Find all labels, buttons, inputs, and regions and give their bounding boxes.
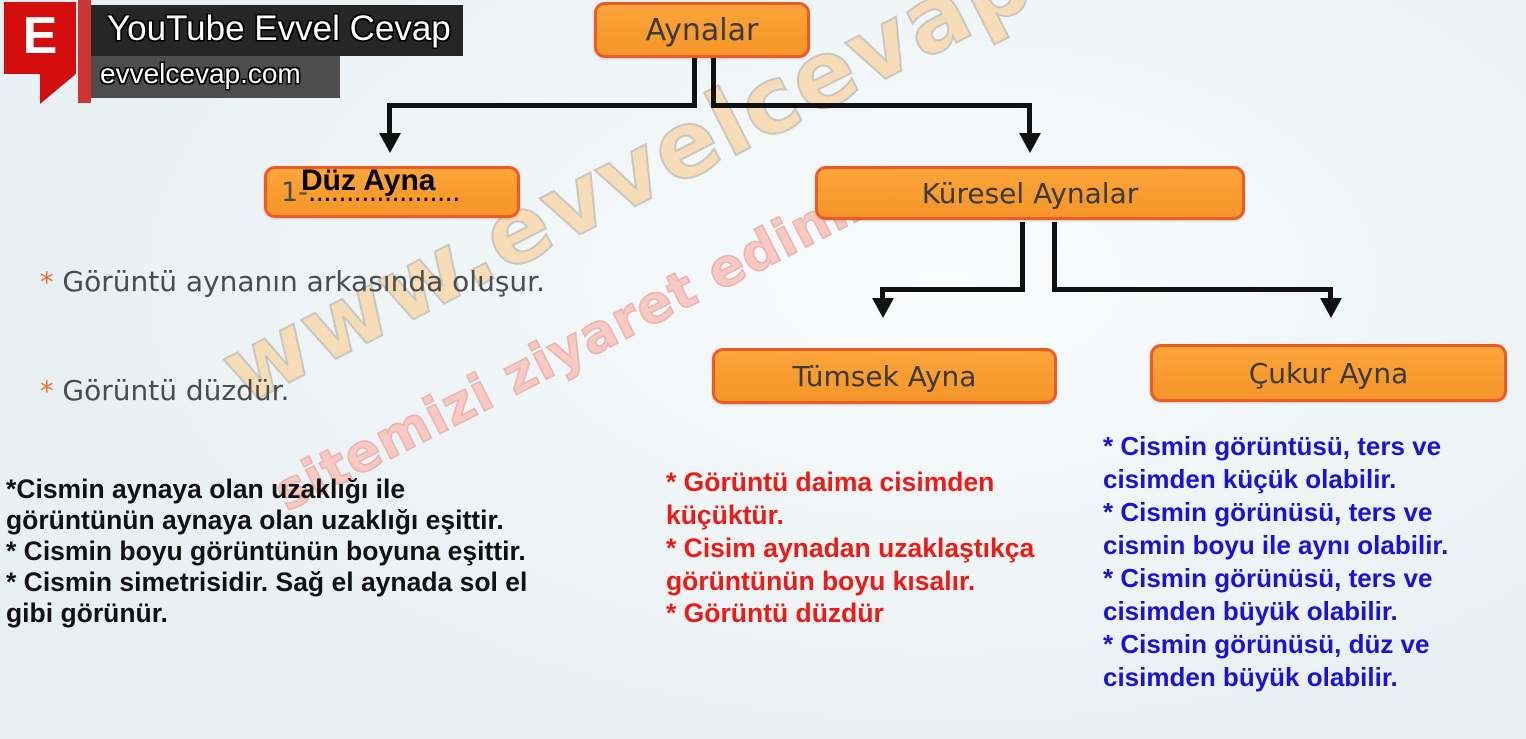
list-item: görüntünün boyu kısalır. [666,565,1096,598]
logo-accent-bar [78,0,91,103]
list-item: cismin boyu ile aynı olabilir. [1103,529,1521,562]
connector-kuresel-left-horiz [880,287,1025,292]
duz-ayna-properties: *Cismin aynaya olan uzaklığı ile görüntü… [6,474,646,629]
list-item: görüntünün aynaya olan uzaklığı eşittir. [6,505,646,536]
list-item: * Cisim aynadan uzaklaştıkça [666,532,1096,565]
cukur-ayna-properties: * Cismin görüntüsü, ters ve cisimden küç… [1103,430,1521,694]
arrowhead-kuresel [1019,133,1041,153]
list-item: cisimden küçük olabilir. [1103,463,1521,496]
arrowhead-cukur [1320,298,1342,318]
site-url: evvelcevap.com [100,58,301,90]
list-item: * Cismin boyu görüntünün boyuna eşittir. [6,536,646,567]
list-item: * Görüntü daima cisimden [666,466,1096,499]
list-item: * Cismin görünüsü, ters ve [1103,562,1521,595]
list-item: *Cismin aynaya olan uzaklığı ile [6,474,646,505]
connector-root-left-stem [692,58,697,108]
logo-letter: E [4,2,76,74]
list-item: cisimden büyük olabilir. [1103,595,1521,628]
list-item: * Görüntü düzdür [666,597,1096,630]
connector-root-right-stem [711,58,716,108]
list-item: * Cismin görünüsü, düz ve [1103,628,1521,661]
node-aynalar[interactable]: Aynalar [594,2,810,58]
asterisk-icon: * [40,267,54,298]
list-item: * Cismin simetrisidir. Sağ el aynada sol… [6,567,646,598]
arrowhead-tumsek [872,298,894,318]
duz-gray-note-1: * Görüntü aynanın arkasında oluşur. [40,265,545,298]
node-kuresel-aynalar[interactable]: Küresel Aynalar [815,166,1245,220]
node-tumsek-label: Tümsek Ayna [793,360,977,393]
node-duz-ayna[interactable]: 1- .................... Düz Ayna [264,166,520,218]
diagram-canvas: www.evvelcevap.com sitemizi ziyaret edin… [0,0,1526,739]
node-tumsek-ayna[interactable]: Tümsek Ayna [712,348,1057,404]
connector-kuresel-left-stem [1020,222,1025,292]
duz-gray-note-2: * Görüntü düzdür. [40,374,289,407]
connector-kuresel-right-stem [1052,222,1057,292]
connector-kuresel-right-horiz [1052,287,1333,292]
tumsek-ayna-properties: * Görüntü daima cisimden küçüktür. * Cis… [666,466,1096,630]
connector-root-right-horiz [711,103,1032,108]
connector-root-left-horiz [387,103,697,108]
site-url-bar: evvelcevap.com [91,56,340,98]
asterisk-icon: * [40,376,54,407]
node-duz-answer: Düz Ayna [301,164,435,198]
logo-tail [40,74,76,104]
channel-title-bar: YouTube Evvel Cevap [91,5,463,56]
node-cukur-label: Çukur Ayna [1249,357,1409,390]
arrowhead-duz [379,133,401,153]
duz-gray-note-1-text: Görüntü aynanın arkasında oluşur. [62,265,545,298]
fill-in-blank: 1- .................... Düz Ayna [281,177,460,208]
list-item: * Cismin görünüsü, ters ve [1103,496,1521,529]
duz-gray-note-2-text: Görüntü düzdür. [62,374,289,407]
list-item: cisimden büyük olabilir. [1103,661,1521,694]
list-item: gibi görünür. [6,598,646,629]
node-aynalar-label: Aynalar [646,13,759,48]
channel-title: YouTube Evvel Cevap [107,9,451,49]
evvelcevap-logo: E [4,2,76,74]
node-kuresel-label: Küresel Aynalar [922,177,1139,210]
list-item: * Cismin görüntüsü, ters ve [1103,430,1521,463]
list-item: küçüktür. [666,499,1096,532]
node-cukur-ayna[interactable]: Çukur Ayna [1150,344,1507,402]
